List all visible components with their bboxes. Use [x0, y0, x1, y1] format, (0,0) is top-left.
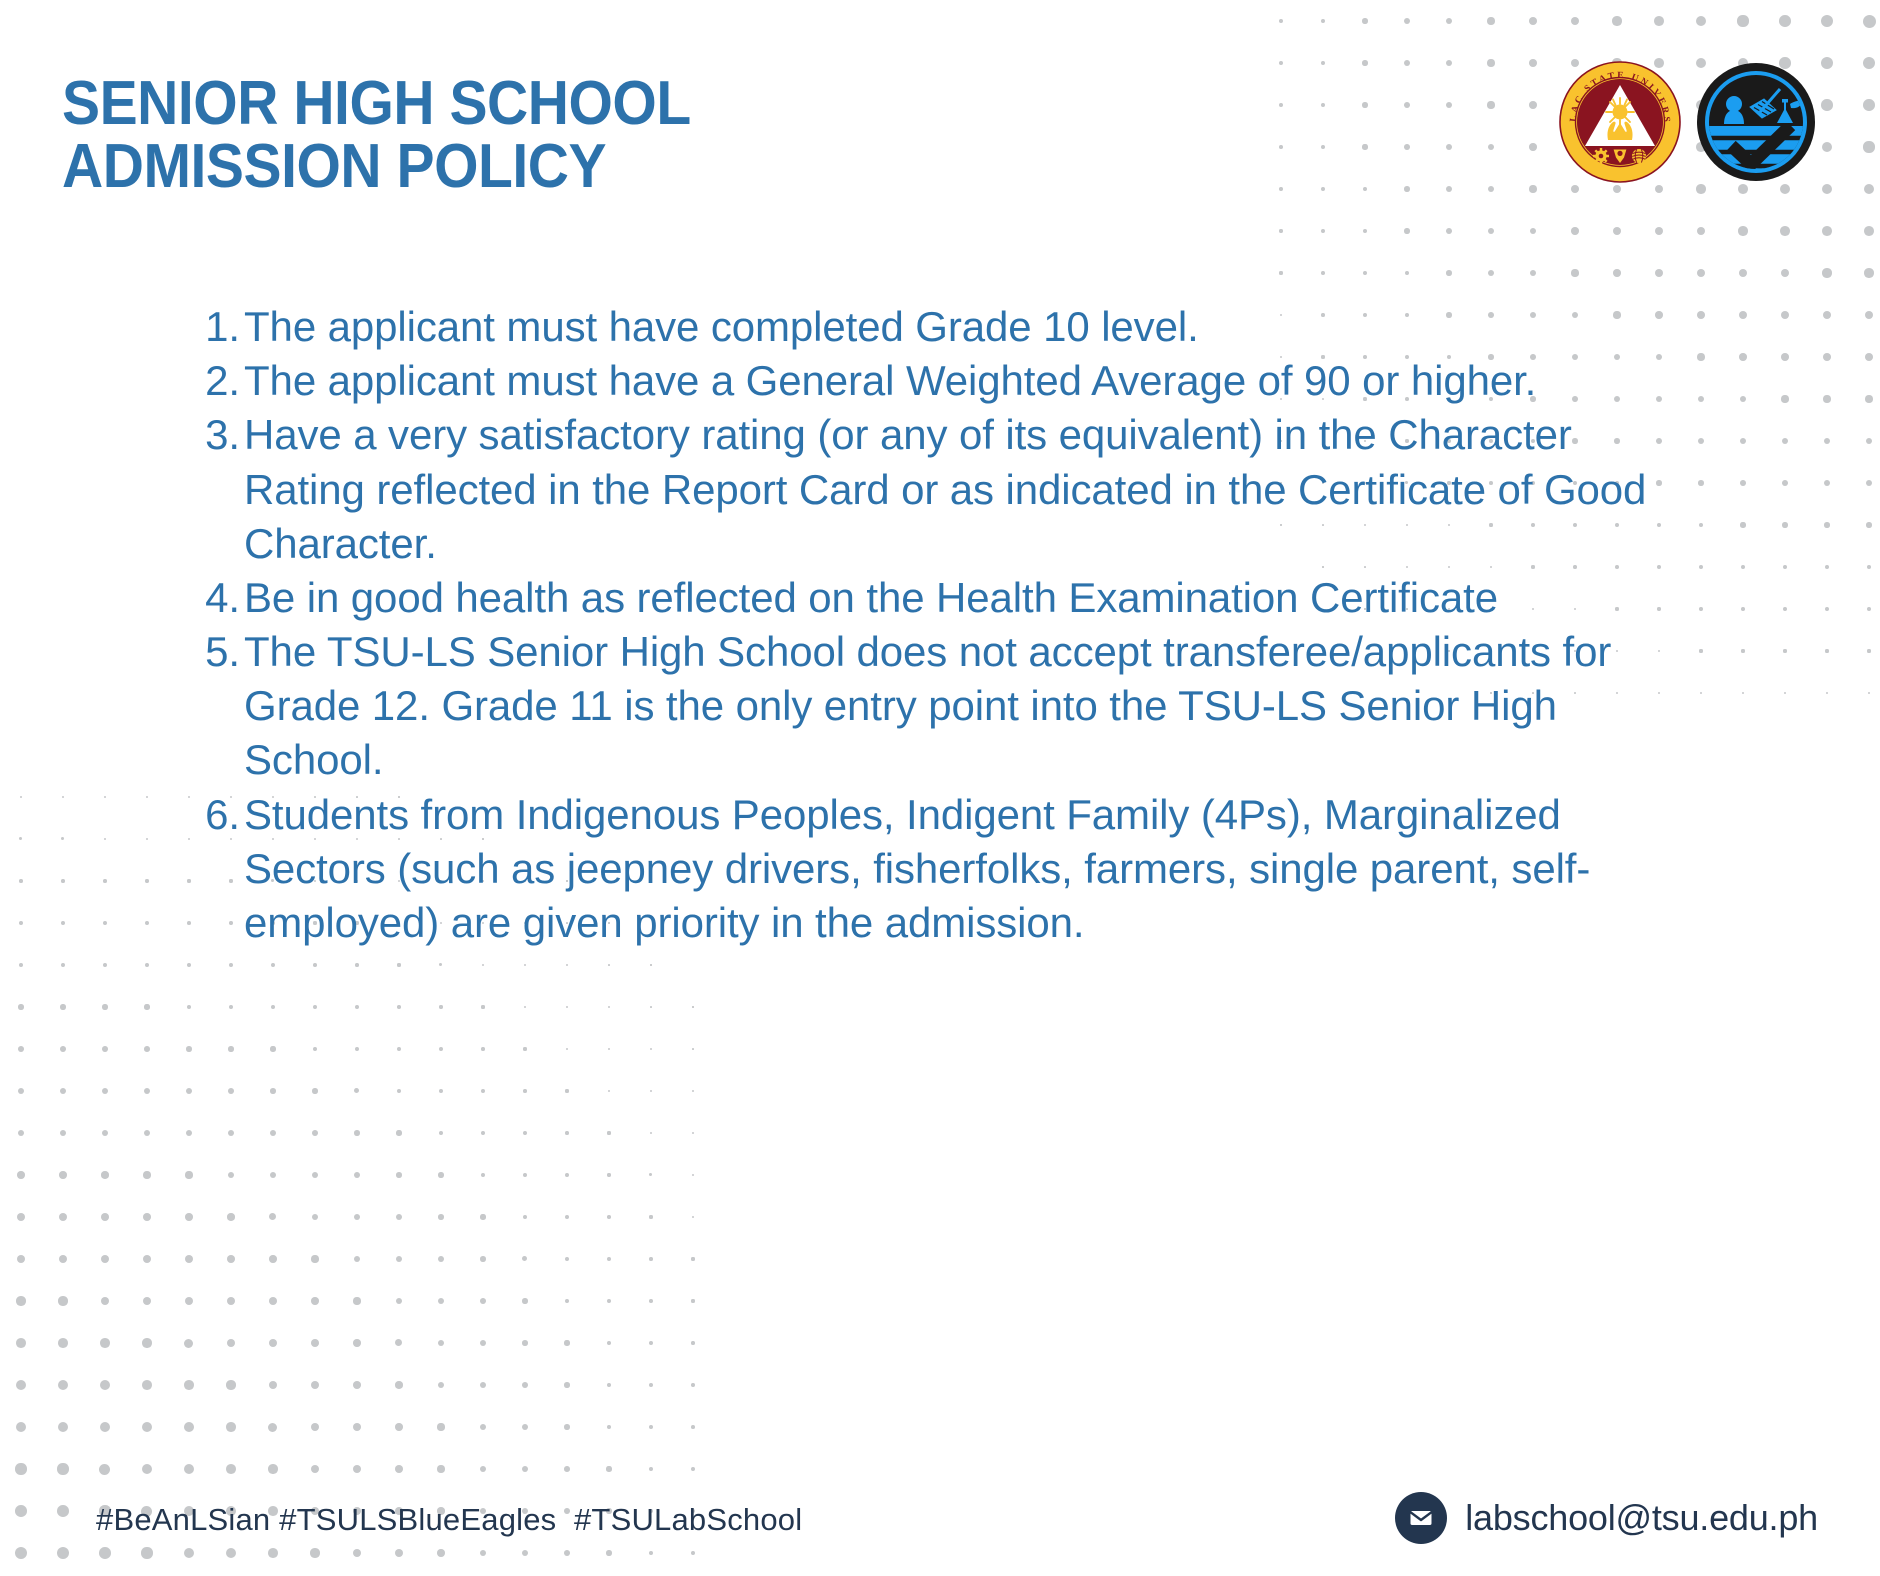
policy-item-number: 2.: [196, 354, 240, 408]
policy-item-number: 1.: [196, 300, 240, 354]
decorative-dot: [692, 1006, 693, 1007]
decorative-dot: [607, 1257, 611, 1261]
decorative-dot: [438, 1256, 444, 1262]
decorative-dot: [1782, 438, 1788, 444]
decorative-dot: [523, 1173, 527, 1177]
poster-canvas: SENIOR HIGH SCHOOL ADMISSION POLICY TARL…: [0, 0, 1880, 1576]
decorative-dot: [19, 963, 24, 968]
decorative-dot: [1867, 649, 1870, 652]
decorative-dot: [270, 1088, 276, 1094]
decorative-dot: [522, 1382, 528, 1388]
decorative-dot: [1321, 271, 1325, 275]
decorative-dot: [523, 1089, 527, 1093]
decorative-dot: [271, 963, 275, 967]
decorative-dot: [101, 1171, 108, 1178]
decorative-dot: [58, 1296, 67, 1305]
policy-item-number: 6.: [196, 788, 240, 842]
decorative-dot: [313, 1047, 318, 1052]
tarlac-state-university-seal-icon: TARLAC STATE UNIVERSITY 1906: [1558, 60, 1682, 184]
policy-item-text: The applicant must have a General Weight…: [244, 354, 1676, 408]
decorative-dot: [649, 1257, 653, 1261]
policy-item-text: Have a very satisfactory rating (or any …: [244, 408, 1676, 571]
decorative-dot: [185, 1213, 193, 1221]
decorative-dot: [355, 963, 359, 967]
decorative-dot: [228, 1088, 234, 1094]
decorative-dot: [1740, 480, 1746, 486]
decorative-dot: [143, 1213, 151, 1221]
decorative-dot: [1655, 269, 1663, 277]
decorative-dot: [1868, 692, 1871, 695]
decorative-dot: [1697, 269, 1705, 277]
decorative-dot: [227, 1297, 235, 1305]
policy-item-number: 3.: [196, 408, 240, 462]
decorative-dot: [143, 1297, 152, 1306]
decorative-dot: [269, 1381, 278, 1390]
decorative-dot: [60, 1130, 67, 1137]
decorative-dot: [1697, 353, 1704, 360]
decorative-dot: [1698, 438, 1704, 444]
decorative-dot: [313, 963, 317, 967]
decorative-dot: [16, 1296, 25, 1305]
decorative-dot: [145, 921, 149, 925]
decorative-dot: [187, 1005, 192, 1010]
decorative-dot: [692, 1048, 694, 1050]
decorative-dot: [650, 1090, 652, 1092]
decorative-dot: [481, 1089, 485, 1093]
decorative-dot: [1740, 522, 1745, 527]
decorative-dot: [354, 1214, 360, 1220]
policy-list-item: 5.The TSU-LS Senior High School does not…: [196, 625, 1676, 788]
decorative-dot: [1866, 522, 1871, 527]
decorative-dot: [353, 1423, 361, 1431]
decorative-dot: [229, 963, 233, 967]
decorative-dot: [607, 1173, 610, 1176]
decorative-dot: [1824, 438, 1831, 445]
decorative-dot: [62, 796, 64, 798]
decorative-dot: [311, 1381, 319, 1389]
decorative-dot: [1825, 649, 1828, 652]
decorative-dot: [102, 1088, 108, 1094]
decorative-dot: [353, 1297, 360, 1304]
decorative-dot: [228, 1046, 233, 1051]
decorative-dot: [143, 1171, 150, 1178]
contact-email-block[interactable]: labschool@tsu.edu.ph: [1395, 1492, 1818, 1544]
decorative-dot: [1781, 395, 1788, 402]
hashtags-text: #BeAnLSian #TSULSBlueEagles #TSULabSchoo…: [96, 1502, 802, 1538]
poster-header: SENIOR HIGH SCHOOL ADMISSION POLICY TARL…: [0, 0, 1880, 230]
decorative-dot: [1824, 480, 1830, 486]
decorative-dot: [100, 1422, 111, 1433]
decorative-dot: [103, 921, 107, 925]
decorative-dot: [101, 1213, 109, 1221]
decorative-dot: [395, 1381, 402, 1388]
decorative-dot: [354, 1130, 359, 1135]
decorative-dot: [58, 1338, 68, 1348]
decorative-dot: [437, 1423, 444, 1430]
decorative-dot: [269, 1213, 276, 1220]
decorative-dot: [16, 1422, 27, 1433]
decorative-dot: [1866, 438, 1873, 445]
decorative-dot: [1781, 311, 1789, 319]
decorative-dot: [397, 1005, 401, 1009]
decorative-dot: [17, 1213, 25, 1221]
decorative-dot: [61, 879, 65, 883]
decorative-dot: [17, 1171, 24, 1178]
decorative-dot: [1571, 269, 1578, 276]
decorative-dot: [439, 1047, 443, 1051]
decorative-dot: [269, 1297, 277, 1305]
decorative-dot: [608, 1048, 610, 1050]
email-address[interactable]: labschool@tsu.edu.ph: [1465, 1497, 1818, 1539]
decorative-dot: [1782, 522, 1787, 527]
decorative-dot: [187, 921, 191, 925]
decorative-dot: [19, 921, 23, 925]
decorative-dot: [58, 1380, 68, 1390]
decorative-dot: [227, 1213, 234, 1220]
decorative-dot: [1699, 565, 1703, 569]
decorative-dot: [480, 1256, 485, 1261]
decorative-dot: [608, 964, 610, 966]
policy-list-item: 6.Students from Indigenous Peoples, Indi…: [196, 788, 1676, 951]
decorative-dot: [101, 1297, 110, 1306]
decorative-dot: [565, 1131, 569, 1135]
decorative-dot: [523, 1131, 527, 1135]
decorative-dot: [438, 1298, 444, 1304]
decorative-dot: [1867, 565, 1872, 570]
decorative-dot: [1783, 565, 1788, 570]
decorative-dot: [18, 1088, 24, 1094]
decorative-dot: [522, 1298, 527, 1303]
decorative-dot: [1740, 438, 1746, 444]
decorative-dot: [61, 837, 64, 840]
decorative-dot: [146, 838, 149, 841]
decorative-dot: [1865, 353, 1873, 361]
decorative-dot: [61, 921, 65, 925]
decorative-dot: [692, 1216, 695, 1219]
decorative-dot: [650, 1132, 653, 1135]
decorative-dot: [1782, 480, 1788, 486]
policy-item-text: Be in good health as reflected on the He…: [244, 571, 1676, 625]
policy-item-text: The TSU-LS Senior High School does not a…: [244, 625, 1676, 788]
decorative-dot: [692, 1174, 695, 1177]
page-title: SENIOR HIGH SCHOOL ADMISSION POLICY: [62, 72, 691, 198]
decorative-dot: [692, 1090, 694, 1092]
decorative-dot: [438, 1172, 443, 1177]
decorative-dot: [1784, 692, 1787, 695]
decorative-dot: [102, 1046, 108, 1052]
decorative-dot: [19, 879, 23, 883]
decorative-dot: [16, 1380, 26, 1390]
tsu-laboratory-school-logo-icon: [1694, 60, 1818, 184]
decorative-dot: [608, 1006, 610, 1008]
decorative-dot: [146, 796, 148, 798]
decorative-dot: [565, 1299, 570, 1304]
decorative-dot: [142, 1380, 152, 1390]
decorative-dot: [1865, 311, 1874, 320]
decorative-dot: [144, 1088, 150, 1094]
decorative-dot: [650, 1006, 652, 1008]
decorative-dot: [269, 1339, 277, 1347]
decorative-dot: [1867, 607, 1871, 611]
policy-list-item: 2.The applicant must have a General Weig…: [196, 354, 1676, 408]
decorative-dot: [1824, 522, 1829, 527]
decorative-dot: [566, 1006, 568, 1008]
decorative-dot: [103, 879, 107, 883]
decorative-dot: [396, 1298, 403, 1305]
decorative-dot: [396, 1214, 402, 1220]
decorative-dot: [103, 963, 108, 968]
decorative-dot: [144, 1004, 149, 1009]
decorative-dot: [60, 1046, 66, 1052]
decorative-dot: [607, 1215, 611, 1219]
decorative-dot: [649, 1173, 652, 1176]
decorative-dot: [691, 1299, 694, 1302]
decorative-dot: [523, 1215, 528, 1220]
decorative-dot: [1866, 480, 1872, 486]
decorative-dot: [313, 1005, 317, 1009]
decorative-dot: [522, 1256, 527, 1261]
decorative-dot: [312, 1214, 319, 1221]
decorative-dot: [1697, 311, 1705, 319]
decorative-dot: [58, 1422, 69, 1433]
decorative-dot: [18, 1046, 24, 1052]
decorative-dot: [184, 1380, 193, 1389]
decorative-dot: [566, 1048, 569, 1051]
decorative-dot: [1822, 268, 1831, 277]
decorative-dot: [397, 963, 400, 966]
decorative-dot: [16, 1338, 26, 1348]
decorative-dot: [1781, 269, 1790, 278]
decorative-dot: [186, 1046, 191, 1051]
decorative-dot: [439, 1089, 443, 1093]
decorative-dot: [227, 1255, 235, 1263]
decorative-dot: [480, 1424, 487, 1431]
decorative-dot: [564, 1424, 569, 1429]
decorative-dot: [649, 1341, 653, 1345]
decorative-dot: [187, 879, 190, 882]
logo-group: TARLAC STATE UNIVERSITY 1906: [1558, 60, 1818, 184]
decorative-dot: [396, 1256, 402, 1262]
decorative-dot: [691, 1425, 695, 1429]
decorative-dot: [184, 1339, 193, 1348]
decorative-dot: [229, 1005, 234, 1010]
decorative-dot: [18, 1130, 25, 1137]
decorative-dot: [1279, 271, 1282, 274]
decorative-dot: [1823, 353, 1831, 361]
decorative-dot: [565, 1173, 569, 1177]
decorative-dot: [1825, 607, 1829, 611]
decorative-dot: [396, 1172, 402, 1178]
decorative-dot: [1825, 565, 1830, 570]
decorative-dot: [397, 1047, 401, 1051]
decorative-dot: [438, 1382, 445, 1389]
decorative-dot: [102, 1130, 109, 1137]
decorative-dot: [481, 1005, 484, 1008]
decorative-dot: [1363, 271, 1367, 275]
decorative-dot: [1698, 480, 1703, 485]
decorative-dot: [353, 1381, 361, 1389]
decorative-dot: [101, 1255, 109, 1263]
decorative-dot: [142, 1422, 152, 1432]
decorative-dot: [439, 1131, 444, 1136]
decorative-dot: [1698, 396, 1705, 403]
decorative-dot: [482, 964, 485, 967]
decorative-dot: [60, 1088, 66, 1094]
decorative-dot: [18, 1004, 23, 1009]
decorative-dot: [144, 1130, 151, 1137]
policy-item-text: The applicant must have completed Grade …: [244, 300, 1676, 354]
decorative-dot: [354, 1088, 359, 1093]
decorative-dot: [1739, 269, 1748, 278]
decorative-dot: [1823, 311, 1831, 319]
decorative-dot: [607, 1383, 612, 1388]
policy-list-item: 4.Be in good health as reflected on the …: [196, 571, 1676, 625]
decorative-dot: [692, 1132, 694, 1134]
decorative-dot: [145, 963, 150, 968]
decorative-dot: [439, 1005, 442, 1008]
decorative-dot: [104, 796, 106, 798]
decorative-dot: [228, 1172, 235, 1179]
decorative-dot: [59, 1255, 68, 1264]
decorative-dot: [226, 1380, 235, 1389]
decorative-dot: [312, 1172, 318, 1178]
decorative-dot: [102, 1004, 107, 1009]
decorative-dot: [480, 1298, 486, 1304]
decorative-dot: [311, 1297, 319, 1305]
decorative-dot: [100, 1380, 110, 1390]
decorative-dot: [226, 1422, 235, 1431]
decorative-dot: [1530, 270, 1537, 277]
decorative-dot: [649, 1383, 653, 1387]
decorative-dot: [481, 1047, 485, 1051]
decorative-dot: [185, 1255, 193, 1263]
decorative-dot: [270, 1172, 277, 1179]
decorative-dot: [104, 838, 107, 841]
decorative-dot: [19, 837, 22, 840]
decorative-dot: [395, 1423, 403, 1431]
decorative-dot: [61, 963, 66, 968]
decorative-dot: [312, 1088, 317, 1093]
decorative-dot: [185, 1297, 194, 1306]
decorative-dot: [438, 1214, 444, 1220]
decorative-dot: [312, 1130, 318, 1136]
decorative-dot: [100, 1338, 109, 1347]
decorative-dot: [188, 838, 191, 841]
decorative-dot: [353, 1339, 360, 1346]
decorative-dot: [480, 1382, 486, 1388]
decorative-dot: [397, 1089, 402, 1094]
decorative-dot: [187, 963, 191, 967]
decorative-dot: [607, 1341, 612, 1346]
decorative-dot: [1613, 269, 1621, 277]
decorative-dot: [524, 1006, 527, 1009]
decorative-dot: [1700, 692, 1702, 694]
decorative-dot: [565, 1089, 568, 1092]
decorative-dot: [1739, 311, 1747, 319]
decorative-dot: [691, 1257, 694, 1260]
decorative-dot: [480, 1340, 486, 1346]
decorative-dot: [691, 1383, 695, 1387]
decorative-dot: [1742, 692, 1745, 695]
decorative-dot: [1699, 649, 1702, 652]
decorative-dot: [354, 1256, 361, 1263]
decorative-dot: [1699, 607, 1703, 611]
decorative-dot: [649, 1299, 653, 1303]
decorative-dot: [480, 1214, 485, 1219]
decorative-dot: [522, 1340, 528, 1346]
decorative-dot: [60, 1004, 65, 1009]
decorative-dot: [523, 1047, 526, 1050]
decorative-dot: [186, 1130, 193, 1137]
decorative-dot: [481, 1131, 485, 1135]
decorative-dot: [607, 1131, 610, 1134]
decorative-dot: [269, 1255, 276, 1262]
decorative-dot: [186, 1088, 192, 1094]
policy-item-number: 4.: [196, 571, 240, 625]
decorative-dot: [564, 1382, 569, 1387]
decorative-dot: [228, 1130, 234, 1136]
decorative-dot: [607, 1425, 612, 1430]
decorative-dot: [524, 964, 526, 966]
decorative-dot: [1781, 353, 1789, 361]
decorative-dot: [355, 1005, 359, 1009]
decorative-dot: [1446, 270, 1452, 276]
decorative-dot: [1741, 607, 1745, 611]
decorative-dot: [17, 1255, 26, 1264]
policy-item-text: Students from Indigenous Peoples, Indige…: [244, 788, 1676, 951]
policy-list-item: 1.The applicant must have completed Grad…: [196, 300, 1676, 354]
decorative-dot: [1699, 523, 1704, 528]
decorative-dot: [650, 1048, 652, 1050]
decorative-dot: [650, 964, 651, 965]
decorative-dot: [354, 1172, 360, 1178]
decorative-dot: [227, 1339, 236, 1348]
decorative-dot: [355, 1047, 360, 1052]
decorative-dot: [1740, 396, 1747, 403]
decorative-dot: [1823, 395, 1830, 402]
decorative-dot: [1864, 268, 1873, 277]
decorative-dot: [395, 1339, 402, 1346]
policy-item-number: 5.: [196, 625, 240, 679]
decorative-dot: [691, 1341, 695, 1345]
decorative-dot: [144, 1046, 150, 1052]
poster-footer: #BeAnLSian #TSULSBlueEagles #TSULabSchoo…: [0, 1456, 1880, 1576]
decorative-dot: [271, 1005, 276, 1010]
decorative-dot: [1741, 565, 1745, 569]
decorative-dot: [649, 1425, 653, 1429]
decorative-dot: [1741, 649, 1744, 652]
decorative-dot: [185, 1171, 192, 1178]
decorative-dot: [1783, 607, 1787, 611]
decorative-dot: [1488, 270, 1494, 276]
decorative-dot: [143, 1255, 151, 1263]
decorative-dot: [59, 1171, 66, 1178]
decorative-dot: [311, 1423, 320, 1432]
decorative-dot: [1739, 353, 1747, 361]
decorative-dot: [438, 1340, 445, 1347]
decorative-dot: [268, 1423, 277, 1432]
decorative-dot: [439, 963, 442, 966]
decorative-dot: [311, 1255, 318, 1262]
decorative-dot: [20, 796, 22, 798]
decorative-dot: [565, 1215, 569, 1219]
decorative-dot: [188, 796, 190, 798]
admission-policy-list: 1.The applicant must have completed Grad…: [196, 300, 1676, 950]
decorative-dot: [1826, 692, 1829, 695]
envelope-icon: [1395, 1492, 1447, 1544]
decorative-dot: [566, 964, 568, 966]
decorative-dot: [1865, 395, 1872, 402]
